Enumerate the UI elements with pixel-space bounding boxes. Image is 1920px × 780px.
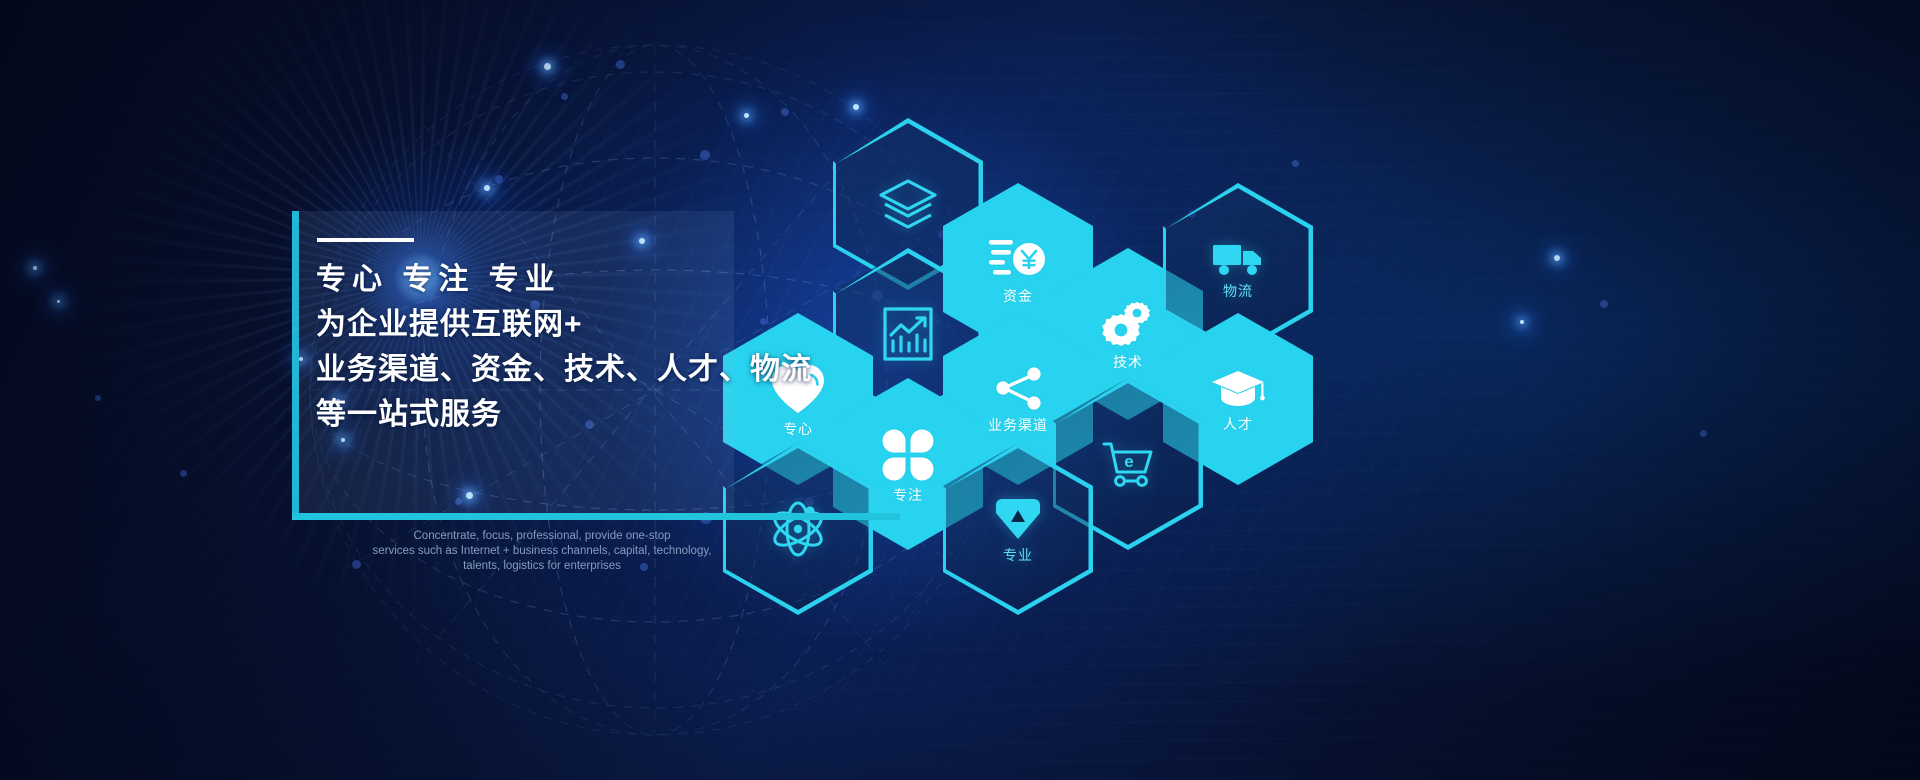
hexagon-cluster: 资金 技术 xyxy=(0,0,1920,780)
subtitle-line-1: Concentrate, focus, professional, provid… xyxy=(302,529,782,544)
diamond-icon xyxy=(996,497,1040,541)
hex-label: 物流 xyxy=(1223,284,1253,298)
yen-coin-icon xyxy=(989,236,1047,282)
headline-line-1: 专心 专注 专业 xyxy=(316,257,736,302)
subtitle-line-2: services such as Internet + business cha… xyxy=(302,544,782,559)
headline-line-2: 为企业提供互联网+ xyxy=(316,302,736,347)
text-panel: 专心 专注 专业 为企业提供互联网+ 业务渠道、资金、技术、人才、物流 等一站式… xyxy=(292,211,734,513)
accent-bar-bottom xyxy=(292,513,900,520)
headline-line-3: 业务渠道、资金、技术、人才、物流 xyxy=(316,347,736,392)
graduation-cap-icon xyxy=(1210,368,1266,410)
subtitle-group: Concentrate, focus, professional, provid… xyxy=(302,529,782,574)
chart-report-icon xyxy=(881,305,935,363)
hex-label: 资金 xyxy=(1003,289,1033,303)
share-node-icon xyxy=(993,367,1043,411)
gears-icon xyxy=(1101,300,1155,348)
hex-professional[interactable]: 专业 xyxy=(943,443,1093,615)
accent-bar-left xyxy=(292,211,299,513)
hex-label: 专业 xyxy=(1003,548,1033,562)
hex-label: 业务渠道 xyxy=(988,418,1048,432)
hero-banner: 资金 技术 xyxy=(0,0,1920,780)
headline-line-4: 等一站式服务 xyxy=(316,392,736,437)
subtitle-line-3: talents, logistics for enterprises xyxy=(302,559,782,574)
clover-icon xyxy=(880,427,936,481)
headline-group: 专心 专注 专业 为企业提供互联网+ 业务渠道、资金、技术、人才、物流 等一站式… xyxy=(316,257,736,437)
truck-icon xyxy=(1212,241,1264,277)
shopping-cart-e-icon: e xyxy=(1101,440,1155,488)
hex-label: 技术 xyxy=(1113,355,1143,369)
title-dash xyxy=(317,238,414,242)
hex-label: 专注 xyxy=(893,488,923,502)
svg-text:e: e xyxy=(1124,452,1133,471)
hex-label: 人才 xyxy=(1223,417,1253,431)
layers-icon xyxy=(877,177,939,231)
hex-label: 专心 xyxy=(783,422,813,436)
